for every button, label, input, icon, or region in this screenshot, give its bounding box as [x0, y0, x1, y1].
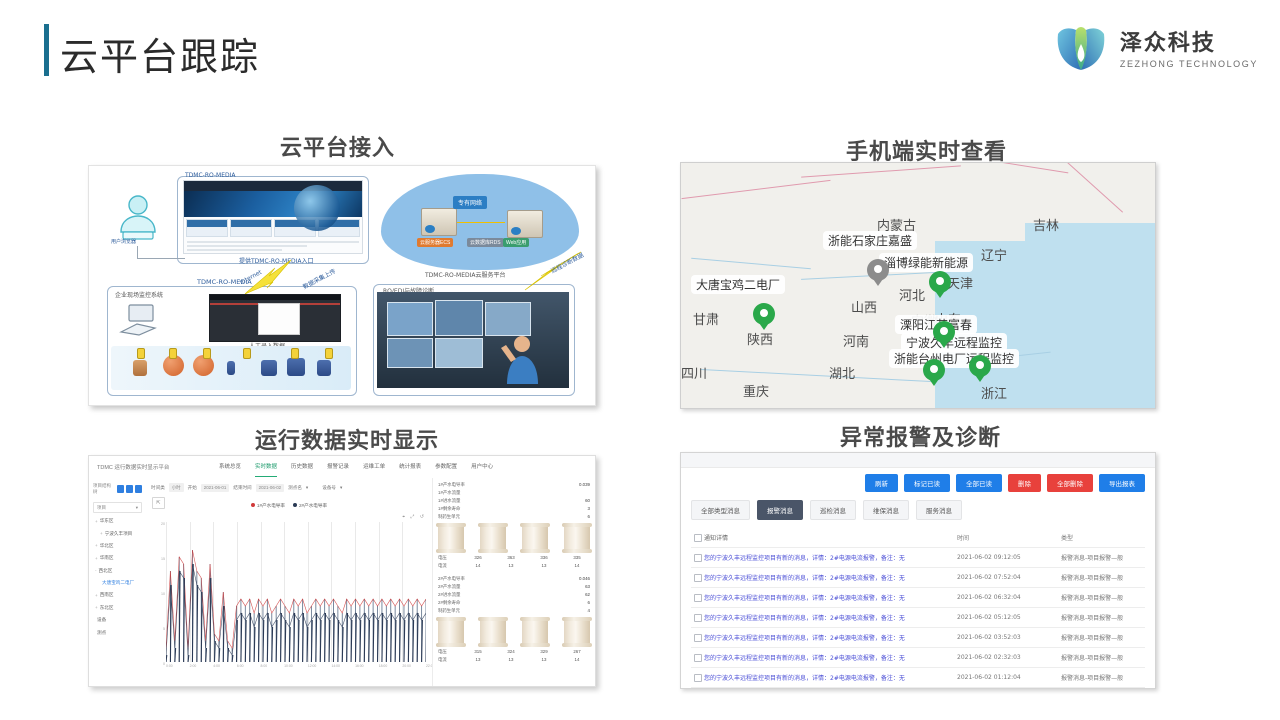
- alarm-topbar: [681, 453, 1155, 468]
- chip-db: 云数据库RDS: [467, 238, 504, 247]
- tree-toggle-icon-1[interactable]: +: [100, 531, 103, 536]
- unit1-current-row: 电流 14 13 13 14: [438, 563, 590, 569]
- map-river-1: [691, 258, 811, 270]
- dashboard-right-panel: 1#产水电导率0.039 1#产水流量 1#进水流量60 1#剩余寿命3 制药生…: [432, 478, 595, 686]
- room-screen-4: [387, 338, 433, 368]
- y-tick-1: 15: [161, 557, 165, 561]
- unit1-kv-0: 1#产水电导率0.039: [438, 482, 590, 488]
- unit1-kv-1: 1#产水流量: [438, 490, 590, 496]
- row-checkbox-6[interactable]: [691, 674, 704, 682]
- alarm-table-row[interactable]: 您的宁波久丰远程监控项目有新的消息，详情：2#电源电流报警，备注：无2021-0…: [691, 568, 1145, 588]
- unit1-voltage-3: 335: [564, 555, 590, 561]
- dashboard-filters[interactable]: 时间类 小时 开始 2021-06-01 结束时间 2021-06-02 测点名…: [146, 478, 432, 495]
- flow-tank-5: [261, 360, 277, 376]
- control-room-photo: [377, 292, 569, 388]
- row-time-6: 2021-06-02 01:12:04: [957, 674, 1061, 681]
- filter-label-end: 结束时间: [233, 485, 251, 491]
- map-label-province-4: 河北: [899, 285, 925, 304]
- alarm-tab-0[interactable]: 全部类型消息: [691, 500, 750, 520]
- sidebar-tree-label-1: 宁波久丰项目: [105, 531, 133, 537]
- filter-value-type[interactable]: 小时: [169, 483, 184, 492]
- unit1-current-3: 14: [564, 563, 590, 569]
- row-detail-3[interactable]: 您的宁波久丰远程监控项目有新的消息，详情：2#电源电流报警，备注：无: [704, 613, 957, 622]
- map-national-border-4: [1063, 162, 1123, 213]
- unit2-v-1: 63: [585, 584, 590, 590]
- row-type-3: 报警消息-项目报警—般: [1061, 613, 1145, 622]
- room-screen-1: [387, 302, 433, 336]
- unit1-spools: [438, 523, 590, 553]
- row-type-0: 报警消息-项目报警—般: [1061, 553, 1145, 562]
- row-detail-2[interactable]: 您的宁波久丰远程监控项目有新的消息，详情：2#电源电流报警，备注：无: [704, 593, 957, 602]
- y-tick-3: 5: [163, 627, 165, 631]
- row-detail-0[interactable]: 您的宁波久丰远程监控项目有新的消息，详情：2#电源电流报警，备注：无: [704, 553, 957, 562]
- spool-icon-2-1: [438, 617, 464, 647]
- filter-label-point: 测点名: [288, 485, 302, 491]
- local-monitor-screenshot: [209, 294, 341, 342]
- tree-toggle-icon-2[interactable]: +: [95, 543, 98, 548]
- map-pin-2[interactable]: [933, 321, 955, 351]
- unit1-k-0: 1#产水电导率: [438, 482, 465, 488]
- dashboard-nav-item-4[interactable]: 运维工单: [363, 462, 385, 470]
- dashboard-main[interactable]: 时间类 小时 开始 2021-06-01 结束时间 2021-06-02 测点名…: [146, 478, 432, 686]
- chart-y-axis: 20151050: [154, 522, 166, 662]
- map-label-province-12: 四川: [681, 363, 707, 382]
- map-national-border-1: [681, 180, 830, 199]
- unit-block-2: 2#产水电导率0.046 2#产水流量63 2#进水流量62 2#剩余寿命6 制…: [438, 576, 590, 663]
- x-tick-1: 2:00: [190, 664, 197, 668]
- row-checkbox-5[interactable]: [691, 654, 704, 662]
- legend-item-0[interactable]: 1#产水电导率: [251, 503, 285, 509]
- unit1-voltage-2: 336: [531, 555, 557, 561]
- map-label-province-9: 河南: [843, 331, 869, 350]
- arch-label-local-system: 企业现场监控系统: [115, 290, 163, 299]
- alarm-tab-3[interactable]: 维保消息: [863, 500, 909, 520]
- unit2-v-2: 62: [585, 592, 590, 598]
- x-tick-2: 4:00: [213, 664, 220, 668]
- select-all-checkbox[interactable]: [691, 534, 704, 542]
- flow-tank-1: [133, 360, 147, 376]
- alarm-button-5[interactable]: 导出报表: [1099, 474, 1145, 492]
- brand-name-cn: 泽众科技: [1120, 25, 1258, 57]
- spool-icon-2-3: [522, 617, 548, 647]
- logo-flower-icon: [1052, 18, 1110, 76]
- row-type-6: 报警消息-项目报警—般: [1061, 673, 1145, 682]
- room-screen-5: [435, 338, 483, 368]
- y-tick-2: 10: [161, 592, 165, 596]
- unit1-current-0: 14: [465, 563, 491, 569]
- unit2-voltage-1: 324: [498, 649, 524, 655]
- map-pin-0[interactable]: [929, 271, 951, 301]
- row-checkbox-4[interactable]: [691, 634, 704, 642]
- architecture-diagram: 用户浏览器 TDMC-RO-MEDIA 提供TDMC-RO-MEDIA入口 专有…: [89, 166, 595, 405]
- map-label-province-7: 甘肃: [693, 309, 719, 328]
- sidebar-view-icon-2[interactable]: [126, 485, 133, 493]
- unit1-current-1: 13: [498, 563, 524, 569]
- room-screen-2: [435, 300, 483, 336]
- dashboard-nav-item-0[interactable]: 系统总览: [219, 462, 241, 470]
- chevron-down-icon-device[interactable]: ▾: [340, 485, 342, 491]
- spool-icon-1-3: [522, 523, 548, 553]
- flow-valve-4: [243, 348, 251, 359]
- map-label-province-10: 湖北: [829, 363, 855, 382]
- unit2-voltage-2: 329: [531, 649, 557, 655]
- alarm-table-row[interactable]: 您的宁波久丰远程监控项目有新的消息，详情：2#电源电流报警，备注：无2021-0…: [691, 608, 1145, 628]
- process-flow-diagram: [111, 346, 351, 390]
- map-callout-2[interactable]: 大唐宝鸡二电厂: [691, 275, 785, 294]
- unit1-current-2: 13: [531, 563, 557, 569]
- unit1-v-3: 3: [588, 506, 590, 512]
- map-pin-1[interactable]: [753, 303, 775, 333]
- alarm-table-row[interactable]: 您的宁波久丰远程监控项目有新的消息，详情：2#电源电流报警，备注：无2021-0…: [691, 548, 1145, 568]
- spool-icon-2-4: [564, 617, 590, 647]
- unit2-k-0: 2#产水电导率: [438, 576, 465, 582]
- unit2-kv-0: 2#产水电导率0.046: [438, 576, 590, 582]
- room-screen-3: [485, 302, 531, 336]
- unit1-current-label: 电流: [438, 563, 458, 569]
- panel-alarm-table[interactable]: 刷新标记已读全部已读删除全部删除导出报表 全部类型消息报警消息巡检消息维保消息服…: [680, 452, 1156, 689]
- sidebar-tree-item-5[interactable]: 大唐宝鸡二电厂: [89, 577, 146, 589]
- alarm-console[interactable]: 刷新标记已读全部已读删除全部删除导出报表 全部类型消息报警消息巡检消息维保消息服…: [681, 453, 1155, 688]
- cloud-server-icon-2: [507, 210, 543, 238]
- unit1-k-3: 1#剩余寿命: [438, 506, 460, 512]
- unit1-voltage-row: 电压 326 363 336 335: [438, 555, 590, 561]
- alarm-table-row[interactable]: 您的宁波久丰远程监控项目有新的消息，详情：2#电源电流报警，备注：无2021-0…: [691, 588, 1145, 608]
- arch-connector-user-v: [137, 246, 138, 259]
- row-time-4: 2021-06-02 03:52:03: [957, 634, 1061, 641]
- sidebar-tree-label-0: 华东区: [100, 518, 114, 524]
- cloud-server-icon-1: [421, 208, 457, 236]
- x-tick-9: 18:00: [379, 664, 388, 668]
- unit2-k-2: 2#进水流量: [438, 592, 460, 598]
- sidebar-tree-item-6[interactable]: +西南区: [89, 589, 146, 601]
- sidebar-project-select[interactable]: 项目 ▾: [93, 502, 142, 513]
- alarm-button-1[interactable]: 标记已读: [904, 474, 950, 492]
- page-title: 云平台跟踪: [60, 26, 260, 81]
- dashboard-nav-item-3[interactable]: 报警记录: [327, 462, 349, 470]
- y-tick-4: 0: [163, 662, 165, 666]
- flow-valve-3: [203, 348, 211, 359]
- flow-valve-6: [325, 348, 333, 359]
- panel-runtime-dashboard[interactable]: TDMC 运行数据实时显示平台 系统总览实时数据历史数据报警记录运维工单统计报表…: [88, 455, 596, 687]
- dashboard-sidebar[interactable]: 项目结构树 项目 ▾ +华东区+宁波久丰项目+华北区+华南区-西北区大唐宝鸡二电…: [89, 478, 147, 686]
- unit2-current-0: 13: [465, 657, 491, 663]
- flow-tank-7: [317, 360, 331, 376]
- unit2-group: 制药生单元4: [438, 608, 590, 614]
- slide-header: 云平台跟踪: [0, 0, 1280, 100]
- unit1-v-0: 0.039: [579, 482, 590, 488]
- sidebar-select-value: 项目: [97, 505, 106, 511]
- chevron-down-icon-point[interactable]: ▾: [306, 485, 308, 491]
- sidebar-tree-label-6: 西南区: [100, 592, 114, 598]
- chart-x-axis: 0:002:004:006:008:0010:0012:0014:0016:00…: [166, 662, 426, 672]
- row-type-5: 报警消息-项目报警—般: [1061, 653, 1145, 662]
- row-detail-1[interactable]: 您的宁波久丰远程监控项目有新的消息，详情：2#电源电流报警，备注：无: [704, 573, 957, 582]
- sidebar-tree-item-0[interactable]: +华东区: [89, 515, 146, 527]
- column-header-time: 时间: [957, 533, 1061, 542]
- alarm-table-row[interactable]: 您的宁波久丰远程监控项目有新的消息，详情：2#电源电流报警，备注：无2021-0…: [691, 628, 1145, 648]
- dashboard-logo: TDMC 运行数据实时显示平台: [97, 463, 169, 471]
- alarm-button-2[interactable]: 全部已读: [956, 474, 1002, 492]
- alarm-tab-2[interactable]: 巡检消息: [810, 500, 856, 520]
- row-checkbox-2[interactable]: [691, 594, 704, 602]
- dashboard-nav-item-5[interactable]: 统计报表: [399, 462, 421, 470]
- tree-toggle-icon-4[interactable]: -: [95, 568, 97, 573]
- arch-label-platform-top: TDMC-RO-MEDIA: [185, 172, 236, 179]
- alarm-action-buttons[interactable]: 刷新标记已读全部已读删除全部删除导出报表: [681, 468, 1155, 492]
- map-national-border-2: [801, 165, 961, 177]
- portal-screenshot: [183, 180, 363, 254]
- map-label-province-5: 山西: [851, 297, 877, 316]
- unit2-voltage-label: 电压: [438, 649, 458, 655]
- flow-tank-6: [287, 358, 305, 376]
- map-pin-inactive[interactable]: [867, 259, 889, 289]
- dashboard-nav-item-6[interactable]: 参数配置: [435, 462, 457, 470]
- filter-value-start[interactable]: 2021-06-01: [201, 484, 229, 492]
- alarm-button-4[interactable]: 全部删除: [1047, 474, 1093, 492]
- flow-valve-2: [169, 348, 177, 359]
- title-accent-bar: [44, 24, 49, 76]
- sidebar-tree[interactable]: +华东区+宁波久丰项目+华北区+华南区-西北区大唐宝鸡二电厂+西南区+东北区设备…: [89, 515, 146, 639]
- spool-icon-1-4: [564, 523, 590, 553]
- alarm-table-body[interactable]: 您的宁波久丰远程监控项目有新的消息，详情：2#电源电流报警，备注：无2021-0…: [691, 548, 1145, 688]
- unit1-voltage-0: 326: [465, 555, 491, 561]
- sidebar-tree-item-1[interactable]: +宁波久丰项目: [89, 527, 146, 539]
- column-header-detail: 通知详情: [704, 533, 957, 542]
- unit1-kv-2: 1#进水流量60: [438, 498, 590, 504]
- unit2-current-2: 13: [531, 657, 557, 663]
- unit2-k-3: 2#剩余寿命: [438, 600, 460, 606]
- unit1-k-2: 1#进水流量: [438, 498, 460, 504]
- unit1-v-2: 60: [585, 498, 590, 504]
- sidebar-tree-label-5: 大唐宝鸡二电厂: [102, 580, 134, 586]
- dashboard-nav-item-1[interactable]: 实时数据: [255, 462, 277, 470]
- row-time-1: 2021-06-02 07:52:04: [957, 574, 1061, 581]
- filter-label-device: 设备号: [322, 485, 336, 491]
- row-detail-5[interactable]: 您的宁波久丰远程监控项目有新的消息，详情：2#电源电流报警，备注：无: [704, 653, 957, 662]
- row-time-5: 2021-06-02 02:32:03: [957, 654, 1061, 661]
- brand-text: 泽众科技 ZEZHONG TECHNOLOGY: [1120, 25, 1258, 69]
- unit-block-1: 1#产水电导率0.039 1#产水流量 1#进水流量60 1#剩余寿命3 制药生…: [438, 482, 590, 569]
- unit2-current-3: 14: [564, 657, 590, 663]
- x-tick-7: 14:00: [331, 664, 340, 668]
- map-callout-0[interactable]: 浙能石家庄嘉盛: [823, 231, 917, 250]
- x-tick-3: 6:00: [237, 664, 244, 668]
- map-pin-3[interactable]: [923, 359, 945, 389]
- sidebar-tree-label-4: 西北区: [99, 568, 113, 574]
- alarm-tab-4[interactable]: 服务消息: [916, 500, 962, 520]
- china-map[interactable]: 内蒙古 吉林 辽宁 天津 河北 山西 山东 甘肃 陕西 河南 湖北 重庆 四川 …: [681, 163, 1155, 408]
- sidebar-header-label: 项目结构树: [93, 483, 115, 495]
- map-callout-1[interactable]: 淄博绿能新能源: [879, 253, 973, 272]
- row-time-2: 2021-06-02 06:32:04: [957, 594, 1061, 601]
- arch-connector-user: [137, 258, 185, 259]
- panel-cloud-architecture: 用户浏览器 TDMC-RO-MEDIA 提供TDMC-RO-MEDIA入口 专有…: [88, 165, 596, 406]
- map-label-province-15: 浙江: [981, 383, 1007, 402]
- sidebar-tree-item-9[interactable]: 测点: [89, 626, 146, 638]
- row-time-3: 2021-06-02 05:12:05: [957, 614, 1061, 621]
- unit2-current-1: 13: [498, 657, 524, 663]
- sidebar-tree-item-4[interactable]: -西北区: [89, 565, 146, 577]
- dashboard-nav-item-2[interactable]: 历史数据: [291, 462, 313, 470]
- map-label-province-1: 吉林: [1033, 215, 1059, 234]
- arch-label-browser: 用户浏览器: [111, 238, 136, 245]
- row-time-0: 2021-06-02 09:12:05: [957, 554, 1061, 561]
- sidebar-tree-item-2[interactable]: +华北区: [89, 540, 146, 552]
- unit1-voltage-label: 电压: [438, 555, 458, 561]
- unit2-group-value: 4: [588, 608, 590, 614]
- alarm-button-0[interactable]: 刷新: [865, 474, 898, 492]
- row-type-1: 报警消息-项目报警—般: [1061, 573, 1145, 582]
- sidebar-view-icon-1[interactable]: [117, 485, 124, 493]
- spool-icon-2-2: [480, 617, 506, 647]
- sidebar-view-icon-3[interactable]: [135, 485, 142, 493]
- sidebar-tree-label-2: 华北区: [100, 543, 114, 549]
- map-label-province-11: 重庆: [743, 381, 769, 400]
- y-tick-0: 20: [161, 522, 165, 526]
- chart-series-svg: [166, 522, 426, 662]
- map-pin-4[interactable]: [969, 355, 991, 385]
- spool-icon-1-2: [480, 523, 506, 553]
- flow-valve-5: [291, 348, 299, 359]
- alarm-button-3[interactable]: 删除: [1008, 474, 1041, 492]
- unit2-v-0: 0.046: [579, 576, 590, 582]
- chart-area[interactable]: 20151050 0:002:004:006:008:0010:0012:001…: [154, 522, 426, 672]
- unit2-group-title: 制药生单元: [438, 608, 460, 614]
- chart-plot: [166, 522, 426, 662]
- arch-label-platform-name: TDMC-RO-MEDIA: [197, 278, 252, 286]
- row-detail-6[interactable]: 您的宁波久丰远程监控项目有新的消息，详情：2#电源电流报警，备注：无: [704, 673, 957, 682]
- unit2-kv-3: 2#剩余寿命6: [438, 600, 590, 606]
- flow-tank-4: [227, 361, 235, 375]
- x-tick-10: 20:00: [402, 664, 411, 668]
- map-river-3: [701, 369, 931, 382]
- sidebar-tree-item-3[interactable]: +华南区: [89, 552, 146, 564]
- unit2-voltage-row: 电压 315 324 329 267: [438, 649, 590, 655]
- map-national-border-3: [950, 162, 1069, 173]
- row-checkbox-1[interactable]: [691, 574, 704, 582]
- filter-label-type: 时间类: [151, 485, 165, 491]
- unit2-spools: [438, 617, 590, 647]
- cloud-internal-link: [457, 222, 505, 223]
- unit1-k-1: 1#产水流量: [438, 490, 460, 496]
- unit2-kv-1: 2#产水流量63: [438, 584, 590, 590]
- chip-web: Web应用: [503, 238, 529, 247]
- flow-valve-1: [137, 348, 145, 359]
- unit1-group-value: 6: [588, 514, 590, 520]
- unit1-group-title: 制药生单元: [438, 514, 460, 520]
- chevron-down-icon: ▾: [136, 505, 138, 511]
- map-label-province-2: 辽宁: [981, 245, 1007, 264]
- runtime-dashboard[interactable]: TDMC 运行数据实时显示平台 系统总览实时数据历史数据报警记录运维工单统计报表…: [89, 456, 595, 686]
- legend-item-1[interactable]: 2#产水电导率: [293, 503, 327, 509]
- dashboard-topbar: TDMC 运行数据实时显示平台 系统总览实时数据历史数据报警记录运维工单统计报表…: [89, 456, 595, 479]
- chart-toolbox[interactable]: ⌖ ⤢ ↺: [402, 514, 426, 520]
- x-tick-6: 12:00: [308, 664, 317, 668]
- unit2-k-1: 2#产水流量: [438, 584, 460, 590]
- tree-toggle-icon-3[interactable]: +: [95, 556, 98, 561]
- alarm-table-row[interactable]: 您的宁波久丰远程监控项目有新的消息，详情：2#电源电流报警，备注：无2021-0…: [691, 648, 1145, 668]
- unit2-kv-2: 2#进水流量62: [438, 592, 590, 598]
- unit1-voltage-1: 363: [498, 555, 524, 561]
- unit1-kv-3: 1#剩余寿命3: [438, 506, 590, 512]
- unit2-current-label: 电流: [438, 657, 458, 663]
- column-header-type: 类型: [1061, 533, 1145, 542]
- section-title-cloud-access: 云平台接入: [280, 130, 395, 162]
- sidebar-tree-label-7: 东北区: [100, 605, 114, 611]
- cloud-network-badge: 专有网络: [453, 196, 487, 209]
- user-terminal-icon: 用户浏览器: [113, 192, 163, 246]
- filter-label-start: 开始: [188, 485, 197, 491]
- row-checkbox-3[interactable]: [691, 614, 704, 622]
- section-title-alarm-diag: 异常报警及诊断: [840, 420, 1001, 452]
- sidebar-tree-label-8: 设备: [97, 617, 106, 623]
- x-tick-8: 16:00: [355, 664, 364, 668]
- row-type-2: 报警消息-项目报警—般: [1061, 593, 1145, 602]
- chip-ecs: 云服务器ECS: [417, 238, 453, 247]
- unit2-voltage-3: 267: [564, 649, 590, 655]
- unit2-current-row: 电流 13 13 13 14: [438, 657, 590, 663]
- x-tick-0: 0:00: [166, 664, 173, 668]
- alarm-tabs[interactable]: 全部类型消息报警消息巡检消息维保消息服务消息: [681, 492, 1155, 520]
- row-detail-4[interactable]: 您的宁波久丰远程监控项目有新的消息，详情：2#电源电流报警，备注：无: [704, 633, 957, 642]
- sidebar-tree-item-7[interactable]: +东北区: [89, 602, 146, 614]
- operator-person: [499, 332, 543, 384]
- row-type-4: 报警消息-项目报警—般: [1061, 633, 1145, 642]
- alarm-table-header: 通知详情 时间 类型: [691, 528, 1145, 548]
- sidebar-tree-item-8[interactable]: 设备: [89, 614, 146, 626]
- unit2-voltage-0: 315: [465, 649, 491, 655]
- chart-legend[interactable]: 1#产水电导率2#产水电导率: [146, 503, 432, 509]
- dashboard-nav-item-7[interactable]: 用户中心: [471, 462, 493, 470]
- section-title-runtime-data: 运行数据实时显示: [255, 423, 439, 455]
- dashboard-nav[interactable]: 系统总览实时数据历史数据报警记录运维工单统计报表参数配置用户中心: [219, 462, 493, 470]
- row-checkbox-0[interactable]: [691, 554, 704, 562]
- spool-icon-1-1: [438, 523, 464, 553]
- panel-mobile-map[interactable]: 内蒙古 吉林 辽宁 天津 河北 山西 山东 甘肃 陕西 河南 湖北 重庆 四川 …: [680, 162, 1156, 409]
- alarm-tab-1[interactable]: 报警消息: [757, 500, 803, 520]
- alarm-table[interactable]: 通知详情 时间 类型 您的宁波久丰远程监控项目有新的消息，详情：2#电源电流报警…: [691, 528, 1145, 688]
- alarm-table-row[interactable]: 您的宁波久丰远程监控项目有新的消息，详情：2#电源电流报警，备注：无2021-0…: [691, 668, 1145, 688]
- sidebar-tree-label-3: 华南区: [100, 555, 114, 561]
- brand-logo: 泽众科技 ZEZHONG TECHNOLOGY: [1052, 16, 1258, 78]
- unit1-group: 制药生单元6: [438, 514, 590, 520]
- tree-toggle-icon-7[interactable]: +: [95, 605, 98, 610]
- brand-name-en: ZEZHONG TECHNOLOGY: [1120, 59, 1258, 69]
- tree-toggle-icon-6[interactable]: +: [95, 593, 98, 598]
- sidebar-header: 项目结构树: [89, 478, 146, 500]
- unit2-v-3: 6: [588, 600, 590, 606]
- x-tick-4: 8:00: [261, 664, 268, 668]
- sidebar-tree-label-9: 测点: [97, 630, 106, 636]
- tree-toggle-icon-0[interactable]: +: [95, 519, 98, 524]
- filter-value-end[interactable]: 2021-06-02: [256, 484, 284, 492]
- map-callout-5[interactable]: 浙能台州电厂远程监控: [889, 349, 1019, 368]
- x-tick-5: 10:00: [284, 664, 293, 668]
- local-pc-icon: [117, 302, 159, 336]
